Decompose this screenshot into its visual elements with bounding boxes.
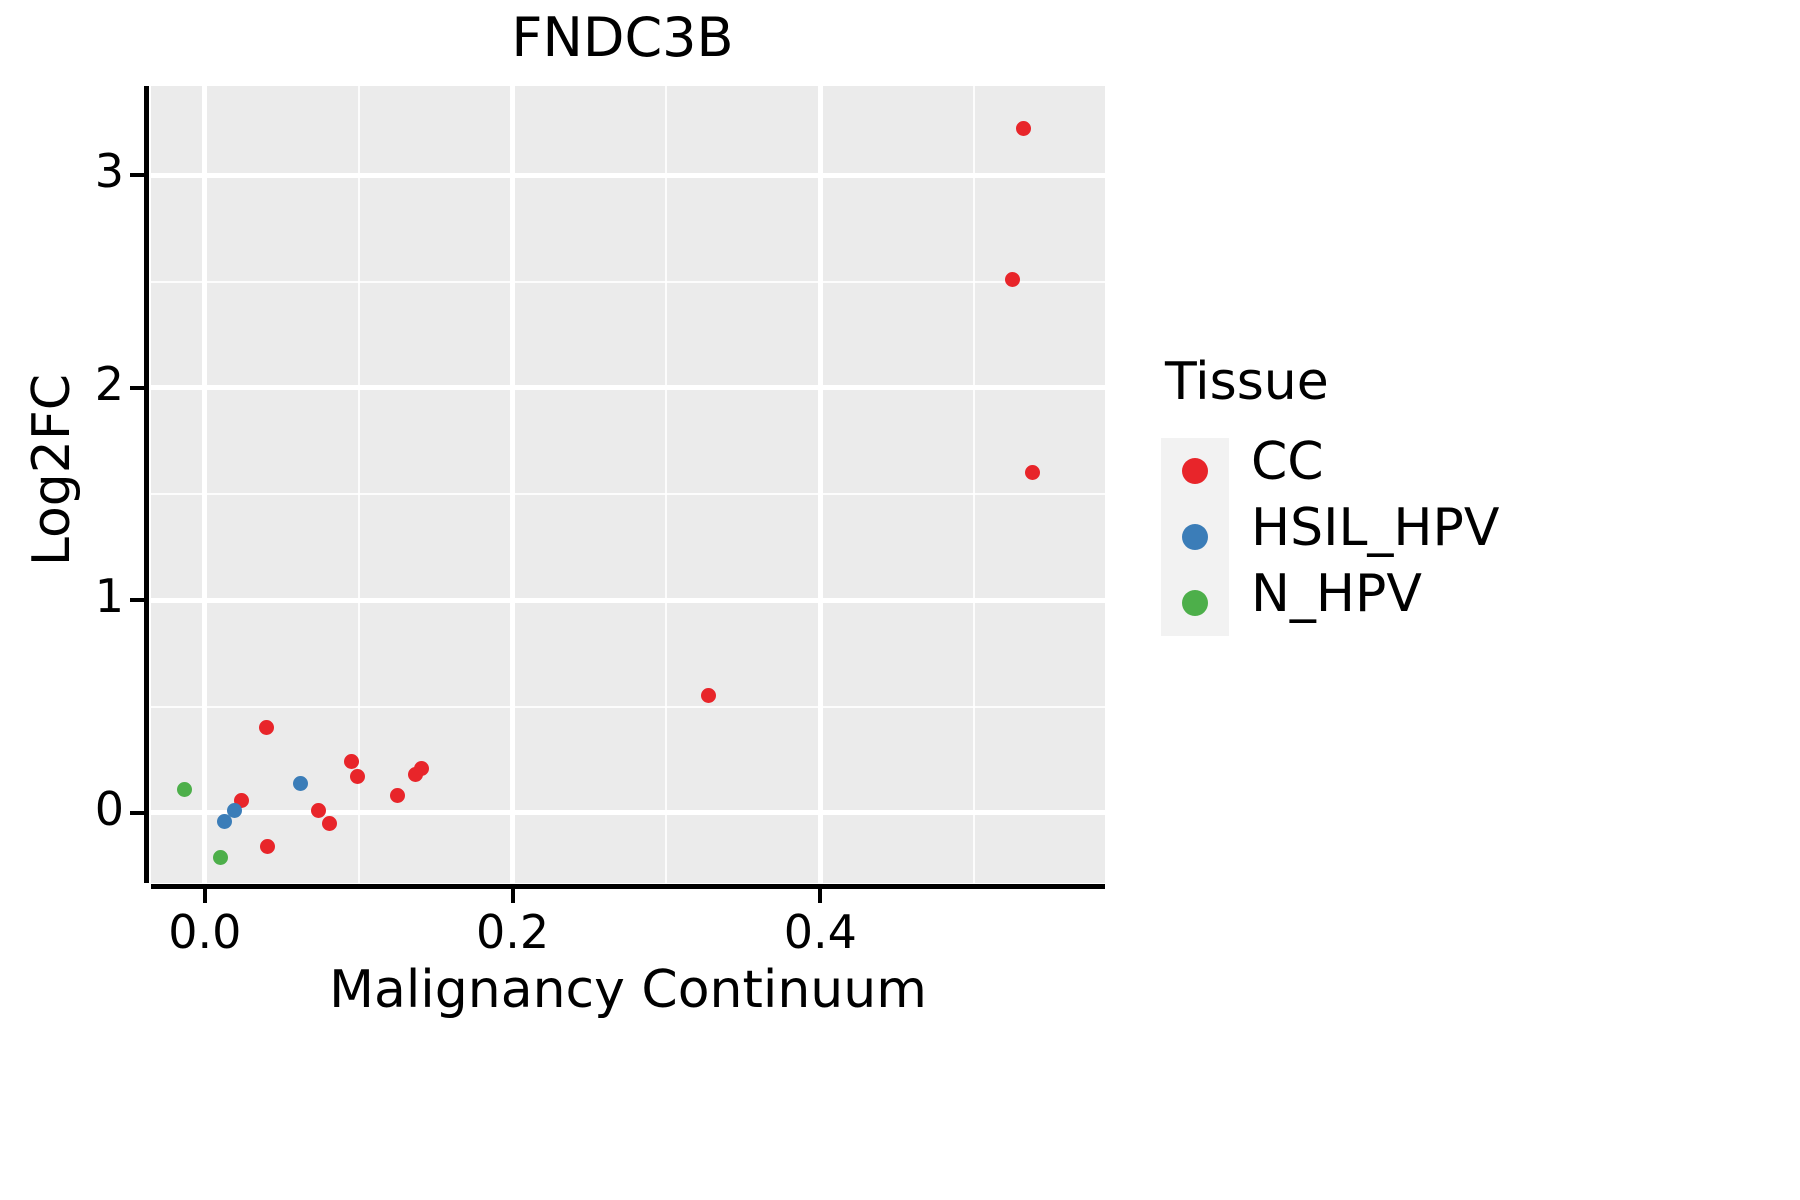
gridline-major-horizontal — [151, 810, 1105, 815]
scatter-point-cc — [1005, 272, 1020, 287]
gridline-major-vertical — [818, 86, 823, 883]
scatter-point-cc — [259, 720, 274, 735]
legend-dot-icon — [1182, 524, 1208, 550]
legend-item-n_hpv[interactable]: N_HPV — [1161, 570, 1581, 636]
scatter-point-cc — [344, 754, 359, 769]
gridline-minor-vertical — [665, 86, 667, 883]
legend-label: HSIL_HPV — [1251, 498, 1499, 558]
scatter-point-cc — [1025, 465, 1040, 480]
legend-title: Tissue — [1165, 352, 1329, 412]
gridline-major-vertical — [202, 86, 207, 883]
gridline-minor-horizontal — [151, 706, 1105, 708]
legend-swatch-hsil_hpv — [1161, 504, 1229, 570]
scatter-point-hsil_hpv — [293, 776, 308, 791]
x-tick-label: 0.4 — [740, 905, 900, 959]
scatter-point-n_hpv — [177, 782, 192, 797]
chart-root: FNDC3B 0123 0.00.20.4 Malignancy Continu… — [0, 0, 1800, 1200]
plot-panel — [151, 86, 1105, 883]
scatter-point-cc — [260, 839, 275, 854]
legend-label: CC — [1251, 432, 1324, 492]
scatter-point-hsil_hpv — [217, 814, 232, 829]
gridline-minor-horizontal — [151, 493, 1105, 495]
x-tick-mark — [511, 889, 515, 903]
y-tick-label: 0 — [0, 782, 138, 836]
gridline-major-vertical — [510, 86, 515, 883]
x-tick-label: 0.2 — [433, 905, 593, 959]
scatter-point-cc — [350, 769, 365, 784]
scatter-point-cc — [390, 788, 405, 803]
gridline-major-horizontal — [151, 173, 1105, 178]
gridline-minor-vertical — [973, 86, 975, 883]
x-tick-mark — [818, 889, 822, 903]
legend-item-hsil_hpv[interactable]: HSIL_HPV — [1161, 504, 1581, 570]
gridline-minor-horizontal — [151, 281, 1105, 283]
x-tick-label: 0.0 — [125, 905, 285, 959]
legend-dot-icon — [1182, 458, 1208, 484]
x-axis-title: Malignancy Continuum — [151, 960, 1105, 1020]
page-title: FNDC3B — [140, 6, 1105, 69]
y-tick-label: 3 — [0, 144, 138, 198]
y-axis-title: Log2FC — [22, 250, 82, 690]
scatter-point-cc — [311, 803, 326, 818]
y-axis-line — [144, 86, 149, 883]
scatter-point-cc — [408, 767, 423, 782]
legend-label: N_HPV — [1251, 564, 1422, 624]
scatter-point-cc — [322, 816, 337, 831]
legend-swatch-cc — [1161, 438, 1229, 504]
legend-dot-icon — [1182, 590, 1208, 616]
scatter-point-cc — [701, 688, 716, 703]
gridline-major-horizontal — [151, 385, 1105, 390]
scatter-point-n_hpv — [213, 850, 228, 865]
gridline-major-horizontal — [151, 598, 1105, 603]
legend-swatch-n_hpv — [1161, 570, 1229, 636]
x-axis-line — [151, 884, 1105, 889]
x-tick-mark — [203, 889, 207, 903]
legend-item-cc[interactable]: CC — [1161, 438, 1581, 504]
scatter-point-cc — [1016, 121, 1031, 136]
